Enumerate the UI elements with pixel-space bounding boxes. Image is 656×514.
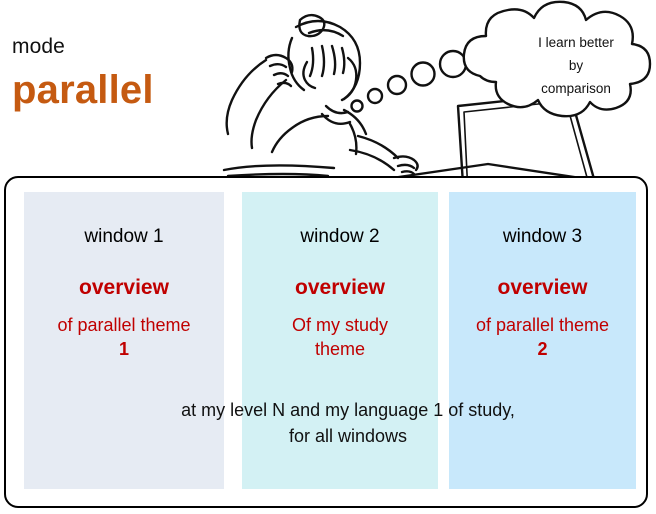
thought-dot-5 <box>440 51 466 77</box>
thought-bubble: I learn better by comparison <box>464 2 650 116</box>
window-panel-1-content: window 1 overview of parallel theme 1 <box>24 225 224 361</box>
mode-label: mode <box>12 34 65 60</box>
header: mode parallel <box>0 0 656 178</box>
window-3-title: window 3 <box>453 225 632 249</box>
thought-bubble-line-1: I learn better <box>538 35 614 50</box>
person-studying-illustration: I learn better by comparison <box>208 0 656 178</box>
thought-dot-3 <box>388 76 406 94</box>
window-panel-2-content: window 2 overview Of my study theme <box>242 225 438 361</box>
window-2-description-line-2: theme <box>246 337 434 361</box>
shared-caption-line-2: for all windows <box>42 423 654 449</box>
mode-value: parallel <box>12 66 154 114</box>
thought-dot-2 <box>368 89 382 103</box>
window-1-title: window 1 <box>28 225 220 249</box>
shared-caption-line-1: at my level N and my language 1 of study… <box>42 397 654 423</box>
window-3-description: of parallel theme 2 <box>453 313 632 361</box>
shared-caption: at my level N and my language 1 of study… <box>42 397 654 449</box>
windows-panel-group: window 1 overview of parallel theme 1 wi… <box>24 192 636 489</box>
window-2-title: window 2 <box>246 225 434 249</box>
window-1-description-line-1: of parallel theme <box>28 313 220 337</box>
thought-dot-1 <box>352 101 363 112</box>
thought-bubble-line-3: comparison <box>541 81 611 96</box>
window-3-overview-label: overview <box>453 275 632 301</box>
thought-bubble-line-2: by <box>569 58 584 73</box>
window-2-description-line-1: Of my study <box>246 313 434 337</box>
thought-dot-4 <box>412 63 435 86</box>
window-panel-3-content: window 3 overview of parallel theme 2 <box>449 225 636 361</box>
window-3-description-line-2: 2 <box>453 337 632 361</box>
window-1-description-line-2: 1 <box>28 337 220 361</box>
window-2-description: Of my study theme <box>246 313 434 361</box>
window-3-description-line-1: of parallel theme <box>453 313 632 337</box>
window-1-overview-label: overview <box>28 275 220 301</box>
window-2-overview-label: overview <box>246 275 434 301</box>
windows-container: window 1 overview of parallel theme 1 wi… <box>4 176 648 508</box>
window-1-description: of parallel theme 1 <box>28 313 220 361</box>
